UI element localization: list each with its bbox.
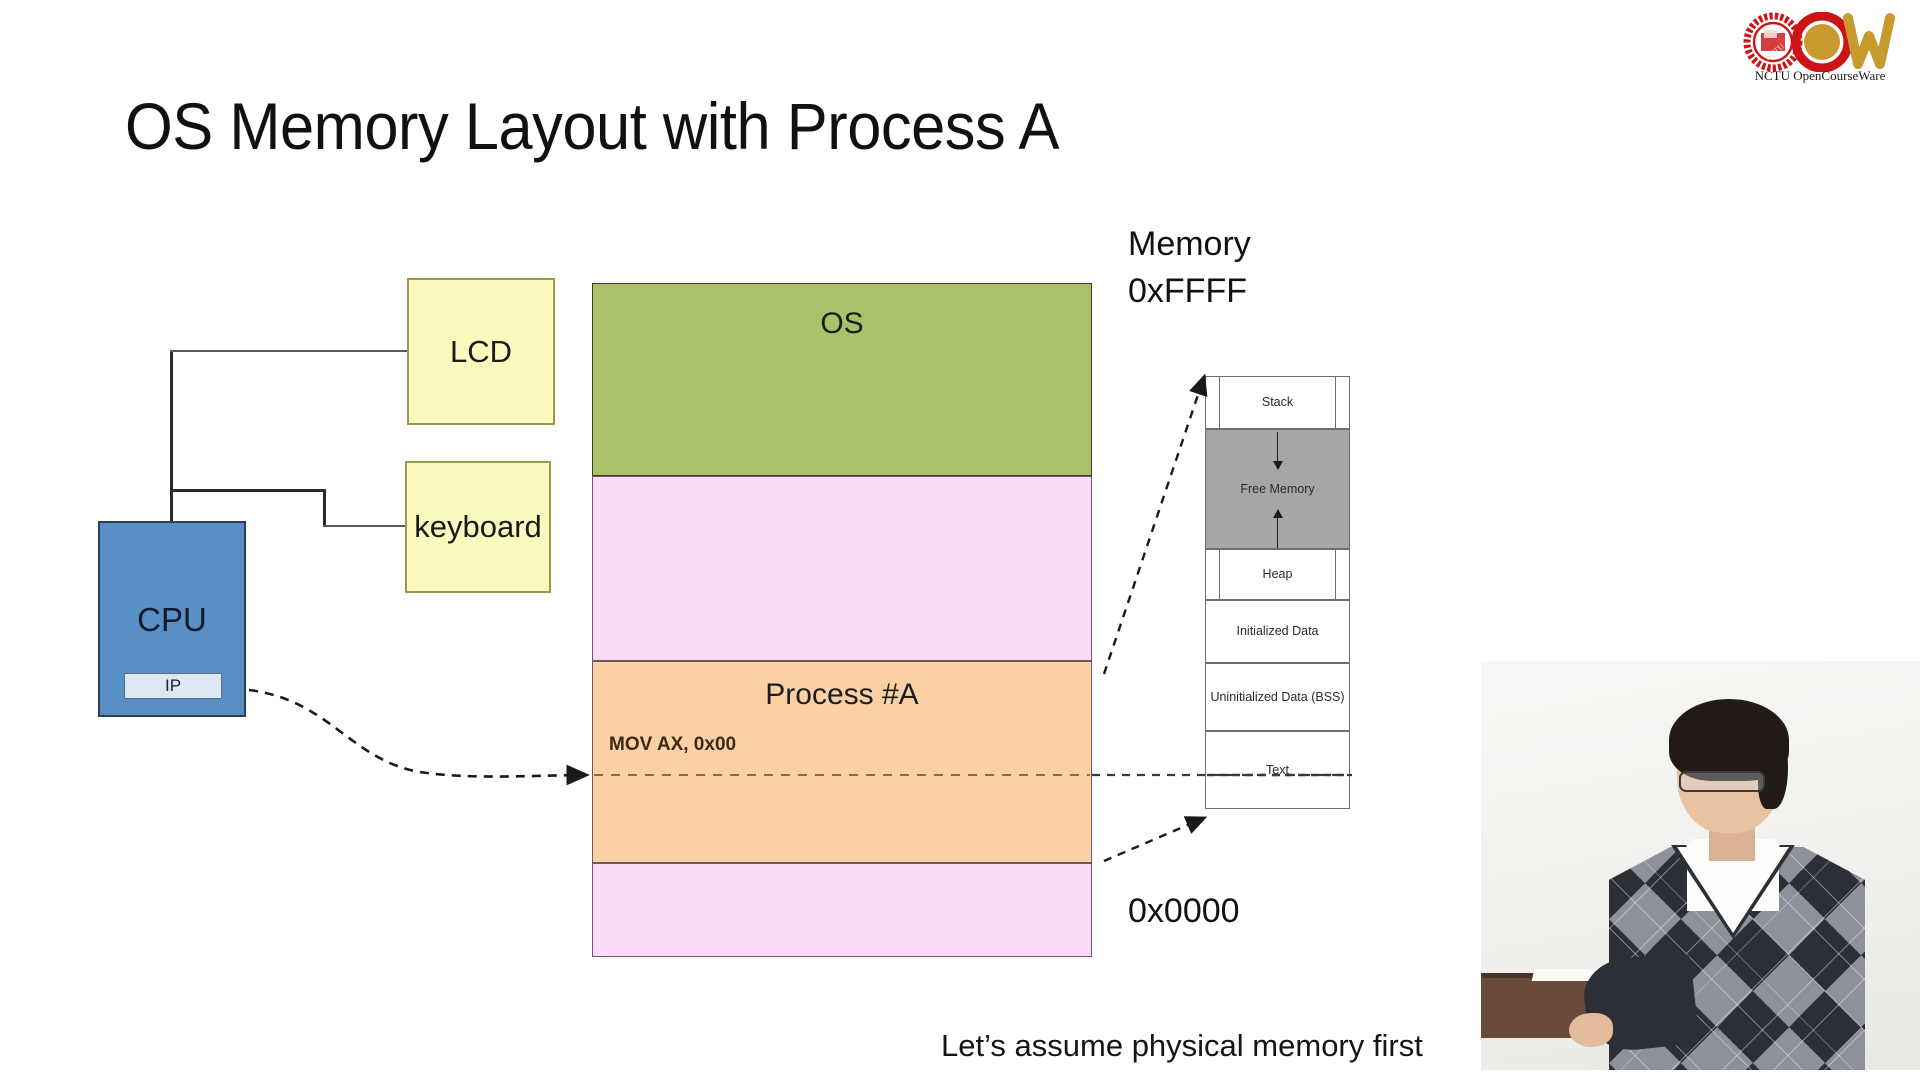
ip-register-label: IP	[165, 676, 181, 696]
presenter-video-overlay[interactable]	[1481, 661, 1920, 1080]
footer-caption: Let’s assume physical memory first	[941, 1028, 1423, 1064]
segment-text: Text	[1205, 731, 1350, 809]
memory-bottom-address: 0x0000	[1128, 892, 1240, 931]
segment-initialized-data: Initialized Data	[1205, 600, 1350, 663]
ocw-wordmark: NCTU OpenCourseWare	[1740, 68, 1900, 84]
video-bottom-strip	[1481, 1070, 1920, 1080]
segment-stack-label: Stack	[1262, 395, 1293, 410]
page-title: OS Memory Layout with Process A	[125, 88, 1059, 164]
memory-top-address: 0xFFFF	[1128, 272, 1247, 311]
free-memory-arrow-down-head	[1273, 461, 1283, 470]
memory-block-free-lower	[592, 863, 1092, 957]
presenter-hand	[1569, 1013, 1613, 1047]
bus-wire-lcd-horizontal	[170, 350, 410, 352]
connector-ip-to-process	[249, 690, 586, 777]
ip-register: IP	[124, 673, 222, 699]
free-memory-arrow-down-shaft	[1277, 432, 1278, 462]
segment-heap: Heap	[1205, 549, 1350, 600]
memory-block-os-label: OS	[593, 307, 1091, 341]
memory-block-process-a: Process #A MOV AX, 0x00	[592, 661, 1092, 863]
device-label-lcd: LCD	[450, 334, 512, 370]
segment-initialized-data-label: Initialized Data	[1237, 624, 1319, 639]
segment-text-label: Text	[1266, 763, 1289, 778]
segment-heap-label: Heap	[1263, 567, 1293, 582]
cpu-block: CPU IP	[98, 521, 246, 717]
bus-wire-keyboard-horizontal-upper	[170, 489, 325, 492]
presenter-glasses-icon	[1679, 771, 1765, 792]
segment-free-memory: Free Memory	[1205, 429, 1350, 549]
free-memory-arrow-up-head	[1273, 509, 1283, 518]
bus-wire-keyboard-horizontal-lower	[323, 525, 411, 527]
device-label-keyboard: keyboard	[414, 509, 542, 545]
connector-process-top-to-stack	[1104, 377, 1204, 674]
device-box-lcd: LCD	[407, 278, 555, 425]
memory-block-os: OS	[592, 283, 1092, 476]
process-memory-layout: Stack Free Memory Heap Initialized Data …	[1205, 376, 1350, 816]
connector-process-bottom-to-text	[1104, 818, 1204, 861]
segment-uninitialized-data-label: Uninitialized Data (BSS)	[1210, 690, 1344, 705]
free-memory-arrow-up-shaft	[1277, 518, 1278, 548]
ocw-logo: NCTU NCTU OpenCourseWare	[1740, 12, 1900, 88]
bus-wire-keyboard-vertical-step	[323, 489, 326, 527]
slide-canvas: NCTU NCTU OpenCourseWare OS Memory Layou…	[0, 0, 1920, 1080]
cpu-label: CPU	[100, 601, 244, 639]
ocw-logo-mark: NCTU	[1740, 12, 1900, 72]
instruction-text: MOV AX, 0x00	[609, 734, 736, 756]
memory-block-process-a-label: Process #A	[593, 678, 1091, 712]
device-box-keyboard: keyboard	[405, 461, 551, 593]
memory-block-free-upper	[592, 476, 1092, 661]
bus-wire-cpu-vertical	[170, 350, 173, 528]
segment-uninitialized-data: Uninitialized Data (BSS)	[1205, 663, 1350, 731]
segment-free-memory-label: Free Memory	[1240, 482, 1314, 497]
presenter-hair-side	[1758, 723, 1788, 809]
memory-caption: Memory	[1128, 225, 1251, 264]
segment-stack: Stack	[1205, 376, 1350, 429]
